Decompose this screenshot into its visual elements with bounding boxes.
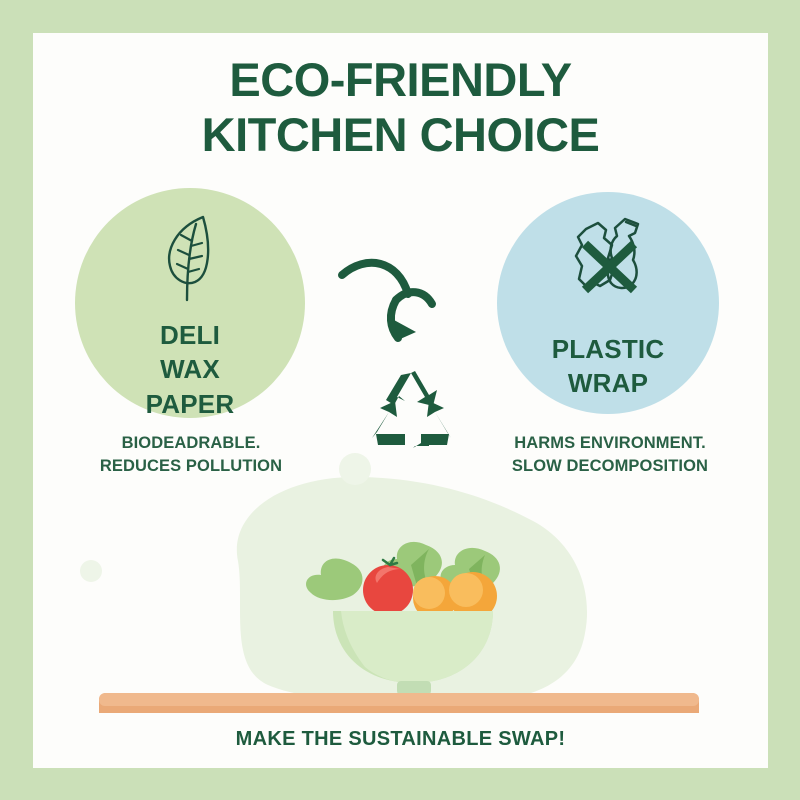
eco-label-line-1: DELI [146,318,235,352]
page-title: ECO-FRIENDLY KITCHEN CHOICE [33,53,768,162]
decor-dot [339,453,371,485]
recycling-symbol-icon [369,370,453,448]
decor-dot [80,560,102,582]
crossed-out-plastic-icon [562,212,654,308]
tagline: MAKE THE SUSTAINABLE SWAP! [33,728,768,751]
option-badge-plastic-label: PLASTIC WRAP [552,332,665,401]
eco-label-line-3: PAPER [146,387,235,421]
title-line-1: ECO-FRIENDLY [33,53,768,108]
poster-card: ECO-FRIENDLY KITCHEN CHOICE DELI WA [33,33,768,768]
eco-label-line-2: WAX [146,352,235,386]
poster-root: ECO-FRIENDLY KITCHEN CHOICE DELI WA [0,0,800,800]
caption-eco-line-1: BIODEADRABLE. [66,432,316,455]
option-badge-eco-label: DELI WAX PAPER [146,318,235,421]
curved-arrow-icon [336,248,446,353]
option-badge-plastic[interactable]: PLASTIC WRAP [497,192,719,414]
option-badge-eco[interactable]: DELI WAX PAPER [75,188,305,418]
title-line-2: KITCHEN CHOICE [33,108,768,163]
plastic-label-line-1: PLASTIC [552,332,665,366]
leaf-icon [156,212,224,304]
caption-plastic-line-1: HARMS ENVIRONMENT. [485,432,735,455]
vegetable-bowl-illustration [33,453,768,713]
plastic-label-line-2: WRAP [552,366,665,400]
